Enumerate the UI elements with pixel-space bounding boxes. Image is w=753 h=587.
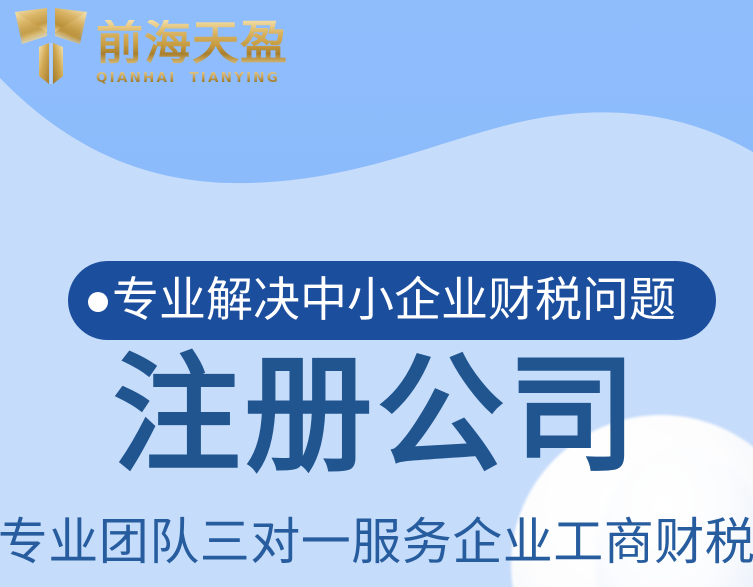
- brand-name-cn: 前海天盈: [96, 20, 288, 67]
- bullet-dot-icon: [88, 292, 108, 312]
- headline-pill[interactable]: 专业解决中小企业财税问题: [68, 261, 716, 340]
- brand-name-en: QIANHAI TIANYING: [96, 70, 288, 86]
- promo-banner: 前海天盈 QIANHAI TIANYING 专业解决中小企业财税问题 注册公司 …: [0, 0, 753, 587]
- headline-pill-text: 专业解决中小企业财税问题: [112, 277, 676, 324]
- page-subtitle: 专业团队三对一服务企业工商财税: [0, 517, 753, 567]
- brand-logo-text: 前海天盈 QIANHAI TIANYING: [96, 6, 288, 86]
- company-t-mark-icon: [14, 6, 88, 90]
- brand-logo[interactable]: 前海天盈 QIANHAI TIANYING: [14, 6, 288, 90]
- page-title: 注册公司: [112, 352, 640, 480]
